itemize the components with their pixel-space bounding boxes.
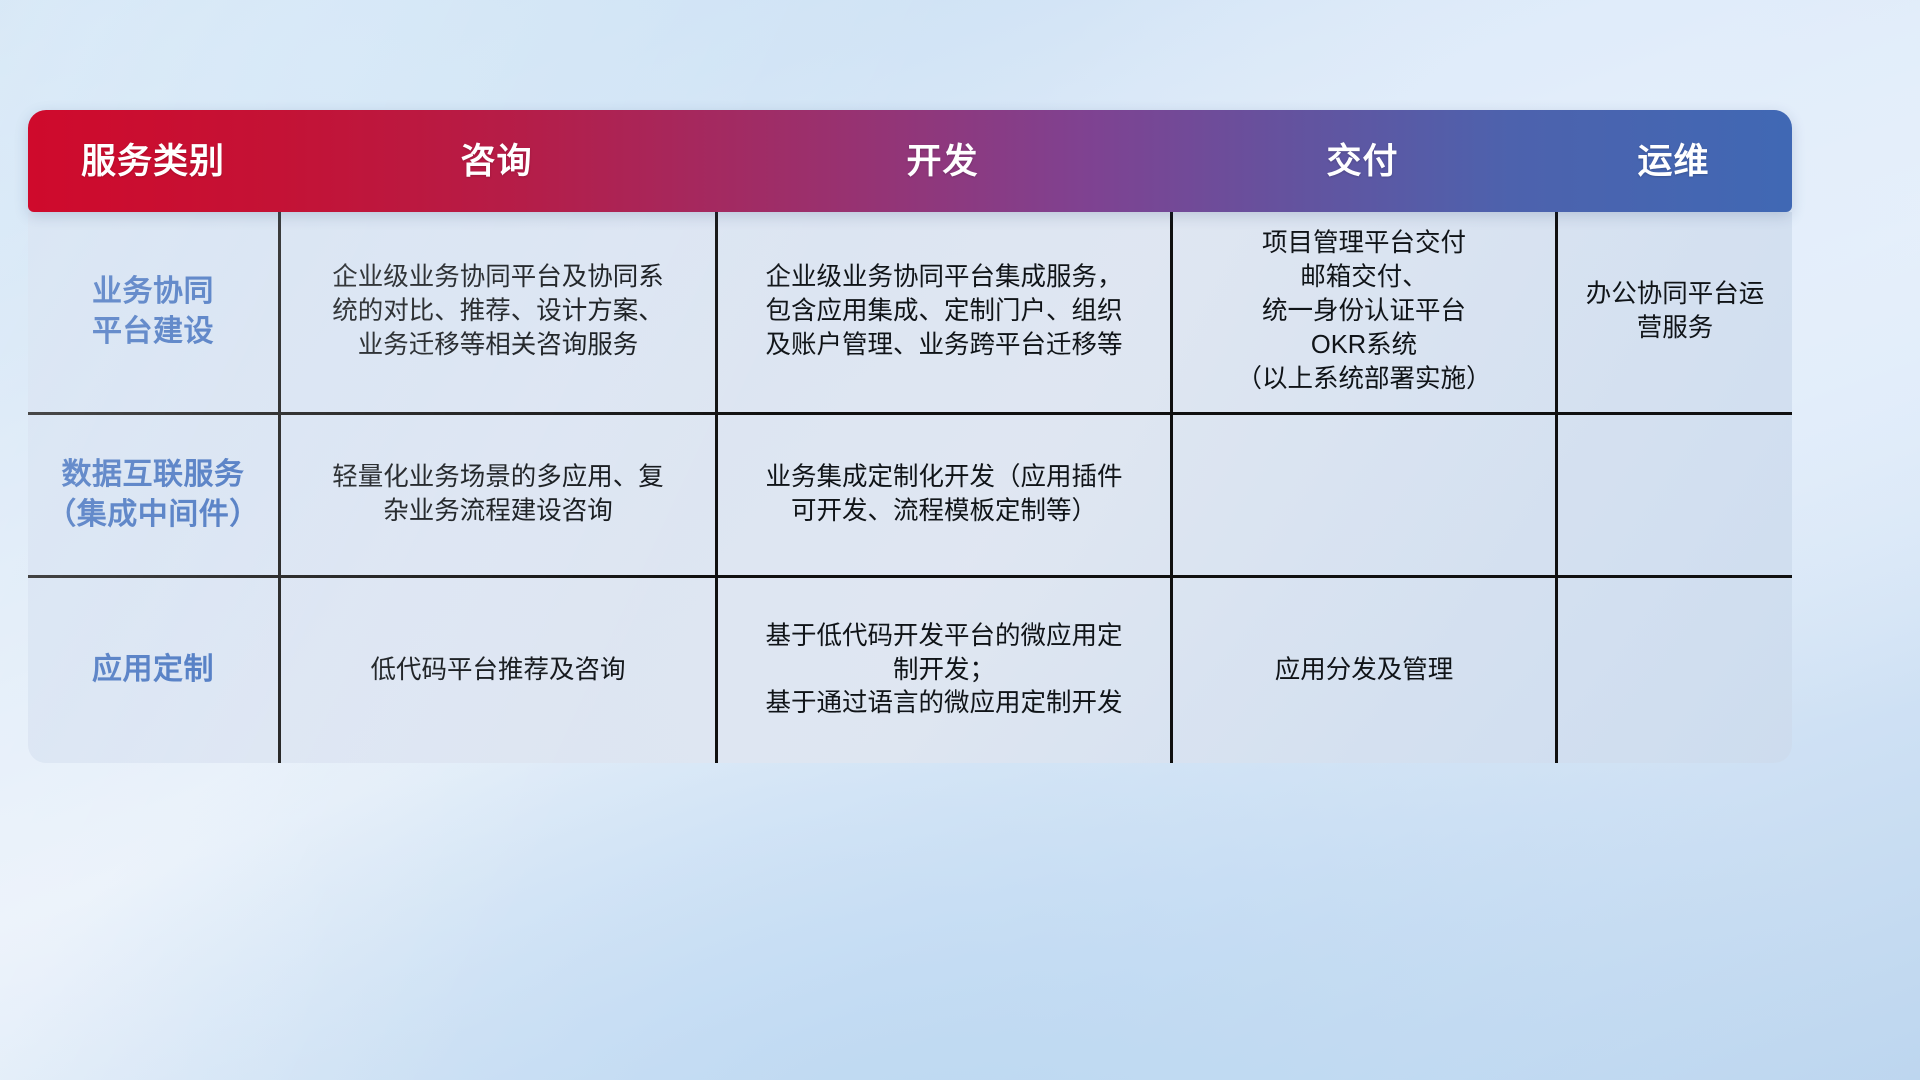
table-row: 应用定制 低代码平台推荐及咨询 基于低代码开发平台的微应用定 制开发； 基于通过… — [28, 575, 1792, 763]
column-header-label: 咨询 — [460, 144, 532, 179]
column-header-label: 服务类别 — [81, 144, 225, 179]
column-header-development: 开发 — [715, 144, 1170, 179]
column-header-service-category: 服务类别 — [28, 144, 278, 179]
page-canvas: 服务类别 咨询 开发 交付 运维 业务协同 平台建设 企业级业务协同平台及协同系… — [0, 0, 1920, 1080]
cell-development: 基于低代码开发平台的微应用定 制开发； 基于通过语言的微应用定制开发 — [715, 578, 1170, 763]
cell-delivery: 应用分发及管理 — [1170, 578, 1555, 763]
cell-development: 企业级业务协同平台集成服务， 包含应用集成、定制门户、组织 及账户管理、业务跨平… — [715, 212, 1170, 412]
cell-operations — [1555, 578, 1792, 763]
cell-operations — [1555, 415, 1792, 575]
cell-development: 业务集成定制化开发（应用插件 可开发、流程模板定制等） — [715, 415, 1170, 575]
cell-consulting: 企业级业务协同平台及协同系 统的对比、推荐、设计方案、 业务迁移等相关咨询服务 — [278, 212, 715, 412]
cell-consulting: 轻量化业务场景的多应用、复 杂业务流程建设咨询 — [278, 415, 715, 575]
table-header-row: 服务类别 咨询 开发 交付 运维 — [28, 110, 1792, 212]
column-header-delivery: 交付 — [1170, 144, 1555, 179]
column-header-label: 开发 — [906, 144, 978, 179]
cell-category: 数据互联服务 （集成中间件） — [28, 415, 278, 575]
table-row: 业务协同 平台建设 企业级业务协同平台及协同系 统的对比、推荐、设计方案、 业务… — [28, 212, 1792, 412]
service-category-table: 服务类别 咨询 开发 交付 运维 业务协同 平台建设 企业级业务协同平台及协同系… — [28, 110, 1792, 763]
table-row: 数据互联服务 （集成中间件） 轻量化业务场景的多应用、复 杂业务流程建设咨询 业… — [28, 412, 1792, 575]
table-body: 业务协同 平台建设 企业级业务协同平台及协同系 统的对比、推荐、设计方案、 业务… — [28, 212, 1792, 763]
cell-operations: 办公协同平台运营服务 — [1555, 212, 1792, 412]
cell-category: 应用定制 — [28, 578, 278, 763]
column-header-consulting: 咨询 — [278, 144, 715, 179]
cell-category: 业务协同 平台建设 — [28, 212, 278, 412]
column-header-label: 交付 — [1326, 144, 1398, 179]
cell-delivery: 项目管理平台交付 邮箱交付、 统一身份认证平台 OKR系统 （以上系统部署实施） — [1170, 212, 1555, 412]
column-header-label: 运维 — [1637, 144, 1709, 179]
cell-delivery — [1170, 415, 1555, 575]
cell-consulting: 低代码平台推荐及咨询 — [278, 578, 715, 763]
column-header-operations: 运维 — [1555, 144, 1792, 179]
